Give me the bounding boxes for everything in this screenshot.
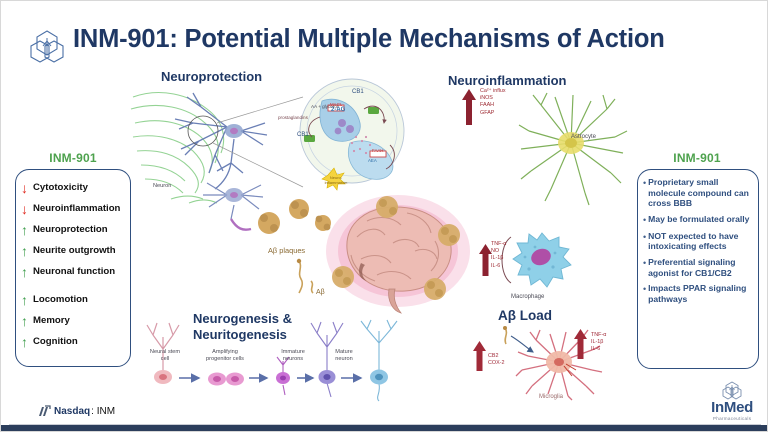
label-abeta-monomer: Aβ <box>316 289 325 296</box>
bullet-dot-icon: • <box>643 257 646 278</box>
list-item[interactable]: ↑ Neurite outgrowth <box>19 240 137 261</box>
abeta-left-markers: CB2 COX-2 <box>488 353 504 367</box>
list-item-label: Proprietary small molecule compound can … <box>648 177 757 209</box>
nasdaq-ticker-value: : INM <box>91 406 115 417</box>
list-item-label: Neuronal function <box>33 266 115 277</box>
label-cb1-top: CB1 <box>352 89 364 95</box>
marker-il-1b-microglia: IL-1β <box>591 339 606 346</box>
arrow-up-icon: ↑ <box>19 223 30 237</box>
inmed-company-name: InMed <box>711 400 753 415</box>
arrow-up-icon: ↑ <box>19 314 30 328</box>
inmed-logo: InMed Pharmaceuticals <box>711 380 753 421</box>
list-item-label: Cognition <box>33 336 78 347</box>
list-item[interactable]: ↑ Locomotion <box>19 289 137 310</box>
nasdaq-separator: : <box>91 406 94 417</box>
list-item[interactable]: • Proprietary small molecule compound ca… <box>643 177 757 209</box>
bullet-dot-icon: • <box>643 231 646 252</box>
label-neuron: Neuron <box>153 183 171 189</box>
page-title: INM-901: Potential Multiple Mechanisms o… <box>73 25 723 54</box>
arrow-up-icon: ↑ <box>19 335 30 349</box>
macrophage-markers: TNF-α NO IL-1β IL-6 <box>491 241 506 270</box>
list-item[interactable]: ↓ Cytotoxicity <box>19 177 137 198</box>
arrow-down-icon: ↓ <box>19 202 30 216</box>
left-panel-list: ↓ Cytotoxicity ↓ Neuroinflammation ↑ Neu… <box>19 177 137 352</box>
list-item[interactable]: ↓ Neuroinflammation <box>19 198 137 219</box>
list-item[interactable]: ↑ Neuronal function <box>19 261 137 282</box>
arrow-up-icon: ↑ <box>19 244 30 258</box>
marker-cb2: CB2 <box>488 353 504 360</box>
list-item[interactable]: • NOT expected to have intoxicating effe… <box>643 231 757 252</box>
nasdaq-ticker: Nasdaq : INM <box>37 405 115 417</box>
arrow-up-icon: ↑ <box>19 293 30 307</box>
list-item-label: Cytotoxicity <box>33 182 88 193</box>
marker-ca-influx: Ca²⁺ influx <box>480 88 506 95</box>
list-item-label: Neuroprotection <box>33 224 108 235</box>
synapse-magnification-illustration <box>294 79 414 191</box>
astrocyte-illustration <box>511 87 641 207</box>
section-title-neuroprotection: Neuroprotection <box>161 69 262 84</box>
marker-tnf-alpha: TNF-α <box>491 241 506 248</box>
label-neuroinflammation-burst: Neuro-inflammation <box>324 175 348 185</box>
list-item-label: NOT expected to have intoxicating effect… <box>648 231 757 252</box>
bullet-dot-icon: • <box>643 177 646 209</box>
label-faah: FAAH <box>372 148 383 153</box>
right-panel-heading: INM-901 <box>637 151 757 165</box>
abeta-right-up-arrow-icon <box>573 329 588 359</box>
marker-il-6: IL-6 <box>491 263 506 270</box>
amyloid-plaque-clusters <box>253 197 333 243</box>
neuroinflammation-markers: Ca²⁺ influx iNOS FAAH GFAP <box>480 88 506 117</box>
list-item-label: Locomotion <box>33 294 88 305</box>
marker-tnf-alpha-microglia: TNF-α <box>591 332 606 339</box>
abeta-right-markers: TNF-α IL-1β IL-6 <box>591 332 606 354</box>
marker-il-6-microglia: IL-6 <box>591 346 606 353</box>
list-item-label: Impacts PPAR signaling pathways <box>648 283 757 304</box>
left-panel-heading: INM-901 <box>13 151 133 165</box>
marker-no: NO <box>491 248 506 255</box>
list-item[interactable]: • May be formulated orally <box>643 214 757 226</box>
list-item-label: Memory <box>33 315 70 326</box>
brain-illustration <box>323 193 473 315</box>
neuroinflammation-up-arrow-icon <box>461 89 477 125</box>
list-item[interactable]: ↑ Memory <box>19 310 137 331</box>
marker-cox-2: COX-2 <box>488 360 504 367</box>
stage-label-immature-neurons: Immature neurons <box>273 349 313 362</box>
stage-label-mature-neuron: Mature neuron <box>326 349 362 362</box>
list-item-label: Preferential signaling agonist for CB1/C… <box>648 257 757 278</box>
list-item[interactable]: ↑ Neuroprotection <box>19 219 137 240</box>
label-cb1-left: CB1 <box>297 132 309 138</box>
slide-canvas: INM-901: Potential Multiple Mechanisms o… <box>0 0 768 432</box>
label-prostaglandins: prostaglandins <box>278 115 308 120</box>
inmed-tagline: Pharmaceuticals <box>711 416 753 421</box>
label-macrophage: Macrophage <box>511 294 544 300</box>
bullet-dot-icon: • <box>643 283 646 304</box>
section-title-neuroinflammation: Neuroinflammation <box>448 73 566 88</box>
marker-il-1b: IL-1β <box>491 255 506 262</box>
label-magl: MAGL <box>330 102 342 107</box>
label-aea: AEA <box>368 158 377 163</box>
stage-label-amplifying-progenitor-cells: Amplifying progenitor cells <box>201 349 249 362</box>
list-item[interactable]: ↑ Cognition <box>19 331 137 352</box>
list-item-label: May be formulated orally <box>648 214 749 226</box>
list-item[interactable]: • Preferential signaling agonist for CB1… <box>643 257 757 278</box>
bottom-accent-bar <box>1 425 768 431</box>
list-item-label: Neurite outgrowth <box>33 245 116 256</box>
ticker-symbol: INM <box>97 406 115 417</box>
label-astrocyte: Astrocyte <box>571 134 596 140</box>
list-item[interactable]: • Impacts PPAR signaling pathways <box>643 283 757 304</box>
hexagon-logo-icon <box>23 25 71 73</box>
label-abeta-plaques: Aβ plaques <box>268 246 305 255</box>
marker-inos: iNOS <box>480 95 506 102</box>
bullet-dot-icon: • <box>643 214 646 226</box>
arrow-up-icon: ↑ <box>19 265 30 279</box>
stage-label-neural-stem-cell: Neural stem cell <box>148 349 182 362</box>
nasdaq-logo-icon <box>37 405 51 417</box>
list-item-label: Neuroinflammation <box>33 203 120 214</box>
abeta-left-up-arrow-icon <box>472 341 487 371</box>
marker-gfap: GFAP <box>480 110 506 117</box>
section-title-abeta-load: Aβ Load <box>498 308 552 323</box>
nasdaq-label: Nasdaq <box>54 406 90 417</box>
arrow-down-icon: ↓ <box>19 181 30 195</box>
label-microglia: Microglia <box>539 394 563 400</box>
right-panel-list: • Proprietary small molecule compound ca… <box>643 177 757 309</box>
inmed-hexagon-icon <box>720 380 744 400</box>
marker-faah: FAAH <box>480 102 506 109</box>
